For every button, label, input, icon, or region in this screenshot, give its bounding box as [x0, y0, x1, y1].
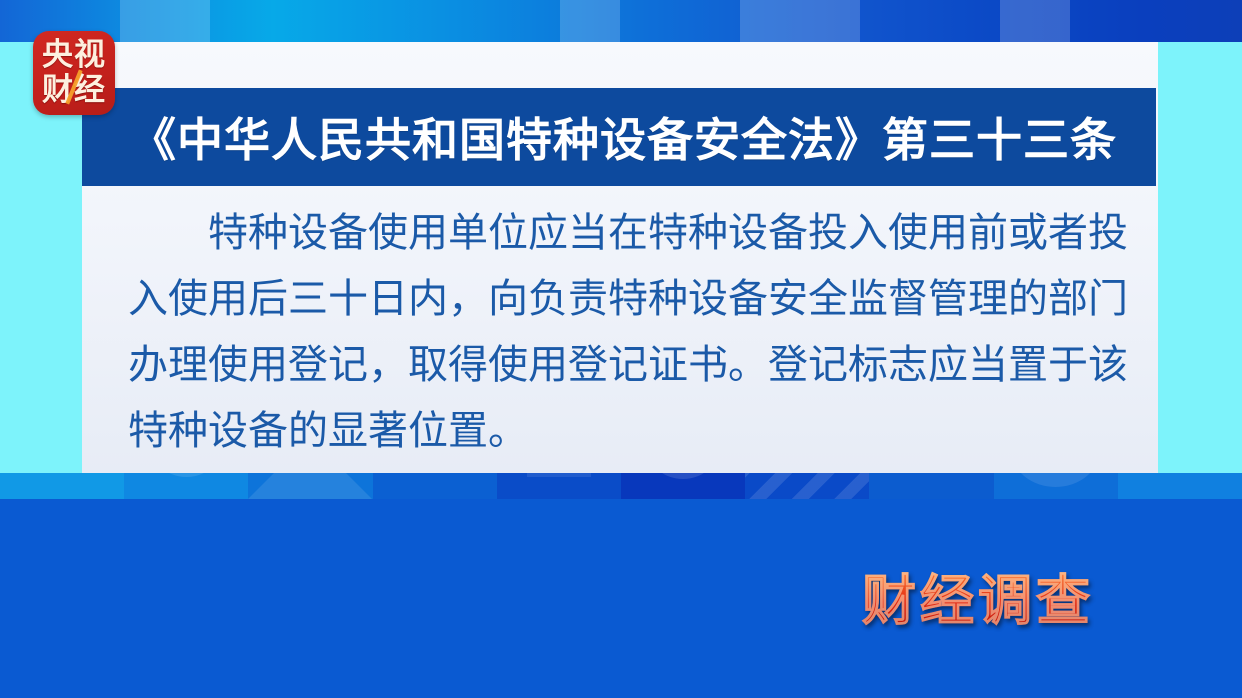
- law-title-bar: 《中华人民共和国特种设备安全法》第三十三条: [82, 88, 1156, 186]
- law-article-paragraph: 特种设备使用单位应当在特种设备投入使用前或者投入使用后三十日内，向负责特种设备安…: [128, 200, 1128, 464]
- program-name-badge: 财经调查: [862, 556, 1094, 635]
- top-gradient-strip: [0, 0, 1242, 42]
- page-title: 《中华人民共和国特种设备安全法》第三十三条: [130, 104, 1117, 170]
- right-cyan-band: [1158, 42, 1242, 473]
- law-article-body: 特种设备使用单位应当在特种设备投入使用前或者投入使用后三十日内，向负责特种设备安…: [128, 200, 1128, 464]
- logo-line-2: 财经: [42, 73, 106, 108]
- logo-line-1: 央视: [42, 38, 106, 73]
- cctv-finance-logo: 央视 财经: [33, 31, 115, 115]
- broadcast-graphic-stage: ¥¥¥ 《中华人民共和国特种设备安全法》第三十三条 特种设备使用单位应当在特种设…: [0, 0, 1242, 698]
